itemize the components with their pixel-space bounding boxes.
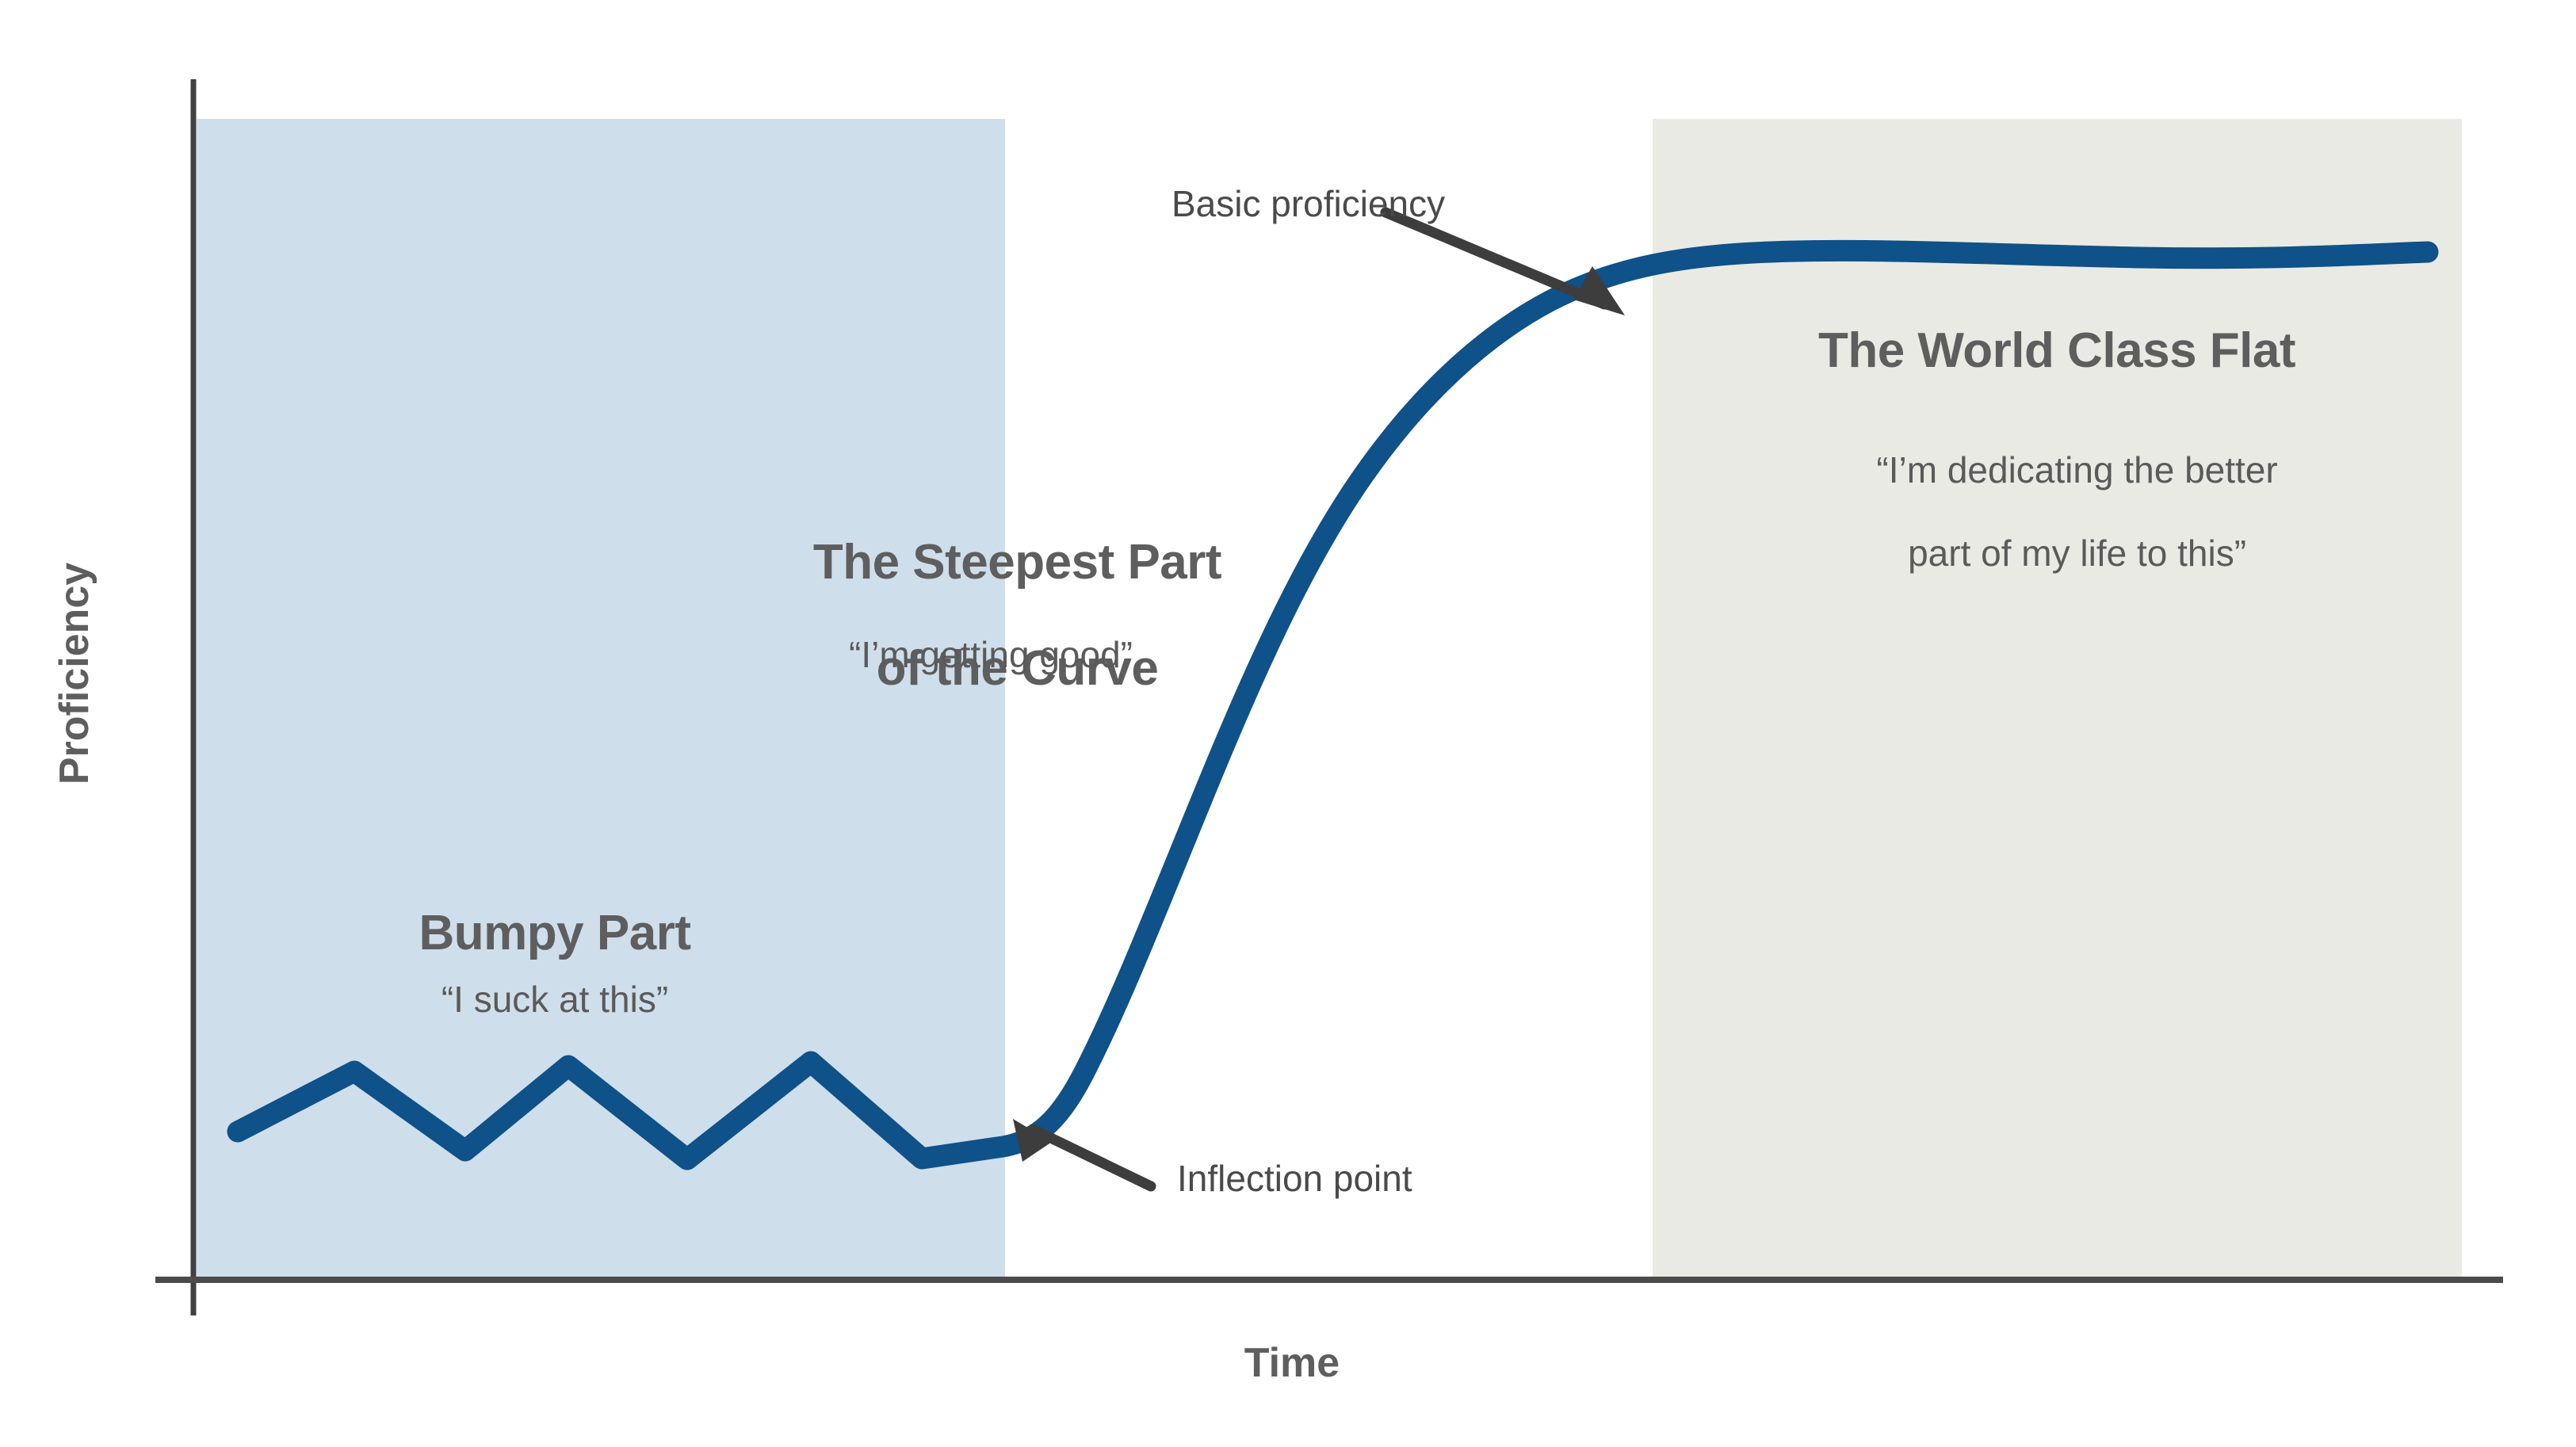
- annotation-basic-proficiency: Basic proficiency: [1171, 182, 1445, 225]
- zone-label-flat-subtitle-line2: part of my life to this”: [1908, 533, 2246, 574]
- zone-label-flat-title: The World Class Flat: [1661, 325, 2453, 378]
- zone-label-flat-subtitle: “I’m dedicating the better part of my li…: [1661, 408, 2453, 616]
- zone-label-steep-title: The Steepest Part of the Curve: [666, 483, 1316, 749]
- band-world-class-flat: [1653, 119, 2462, 1280]
- x-axis-label: Time: [1173, 1339, 1411, 1387]
- zone-label-bumpy-subtitle: “I suck at this”: [333, 979, 777, 1020]
- zone-label-steep-title-line1: The Steepest Part: [813, 535, 1221, 590]
- y-axis-label: Proficiency: [51, 531, 98, 816]
- zone-label-steep-subtitle: “I’m getting good”: [666, 634, 1316, 675]
- zone-label-bumpy-title: Bumpy Part: [333, 907, 777, 960]
- zone-label-flat-subtitle-line1: “I’m dedicating the better: [1876, 449, 2277, 491]
- chart-canvas: Proficiency Time Bumpy Part “I suck at t…: [0, 0, 2576, 1447]
- annotation-inflection-point: Inflection point: [1177, 1157, 1412, 1200]
